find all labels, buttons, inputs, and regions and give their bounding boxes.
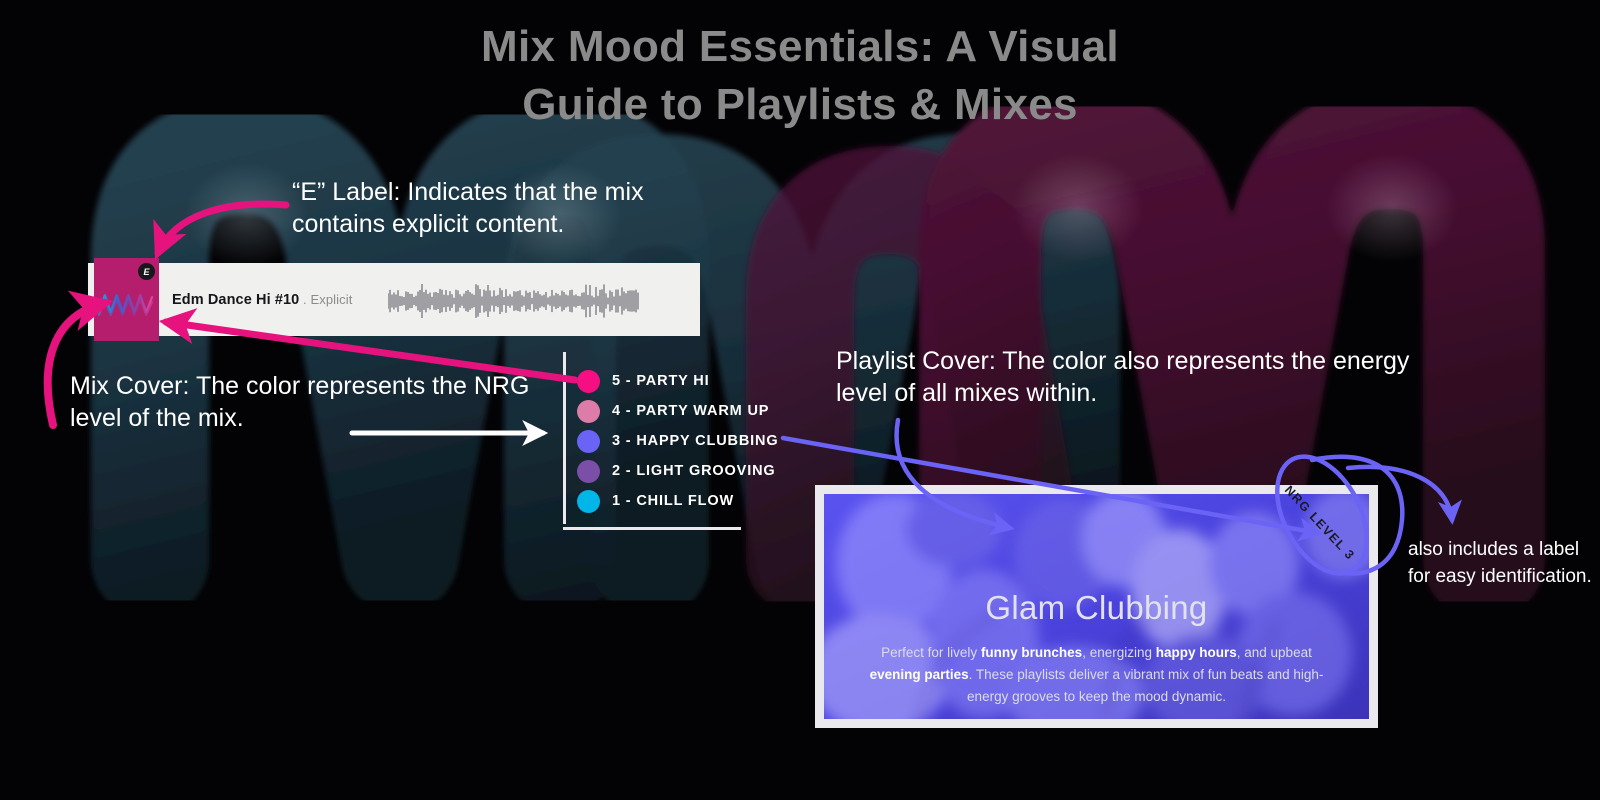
playlist-card-inner: Glam Clubbing Perfect for lively funny b… [824,494,1369,719]
mix-title: Edm Dance Hi #10 . Explicit [172,292,352,308]
legend-left-rule [563,352,566,524]
legend-color-dot [577,460,600,483]
description-fragment: . These playlists deliver a vibrant mix … [967,667,1323,704]
legend-bottom-rule [563,527,741,530]
legend-item: 5 - PARTY HI [577,366,779,396]
mix-separator: . [299,292,310,307]
annotation-playlist-cover: Playlist Cover: The color also represent… [836,345,1416,409]
legend-item-label: 4 - PARTY WARM UP [612,403,769,419]
waveform-icon [97,290,156,318]
description-fragment: , energizing [1082,645,1156,660]
nrg-legend: 5 - PARTY HI4 - PARTY WARM UP3 - HAPPY C… [563,352,793,530]
legend-color-dot [577,490,600,513]
legend-item: 2 - LIGHT GROOVING [577,456,779,486]
legend-color-dot [577,400,600,423]
legend-rows: 5 - PARTY HI4 - PARTY WARM UP3 - HAPPY C… [577,366,779,516]
mix-cover-art[interactable]: E [94,258,159,341]
playlist-card[interactable]: Glam Clubbing Perfect for lively funny b… [815,485,1378,728]
explicit-badge: E [138,263,155,280]
page-title: Mix Mood Essentials: A Visual Guide to P… [0,18,1600,134]
description-fragment: Perfect for lively [881,645,981,660]
infographic-canvas: Mix Mood Essentials: A Visual Guide to P… [0,0,1600,800]
legend-item: 4 - PARTY WARM UP [577,396,779,426]
annotation-also-includes-label: also includes a label for easy identific… [1408,537,1594,591]
legend-item-label: 3 - HAPPY CLUBBING [612,433,779,449]
annotation-mix-cover: Mix Cover: The color represents the NRG … [70,370,550,434]
description-fragment: , and upbeat [1237,645,1312,660]
legend-color-dot [577,370,600,393]
description-fragment: evening parties [870,667,969,682]
mix-explicit-tag: Explicit [310,292,352,307]
legend-color-dot [577,430,600,453]
playlist-name: Glam Clubbing [824,589,1369,627]
page-title-line1: Mix Mood Essentials: A Visual [0,18,1600,76]
audio-waveform [388,283,640,319]
annotation-explicit-label: “E” Label: Indicates that the mix contai… [292,176,732,240]
legend-item-label: 1 - CHILL FLOW [612,493,734,509]
mix-track-title: Edm Dance Hi #10 [172,292,299,308]
legend-item-label: 5 - PARTY HI [612,373,709,389]
description-fragment: happy hours [1156,645,1237,660]
legend-item: 1 - CHILL FLOW [577,486,779,516]
page-title-line2: Guide to Playlists & Mixes [0,76,1600,134]
description-fragment: funny brunches [981,645,1082,660]
legend-item-label: 2 - LIGHT GROOVING [612,463,776,479]
legend-item: 3 - HAPPY CLUBBING [577,426,779,456]
playlist-description: Perfect for lively funny brunches, energ… [854,642,1339,708]
